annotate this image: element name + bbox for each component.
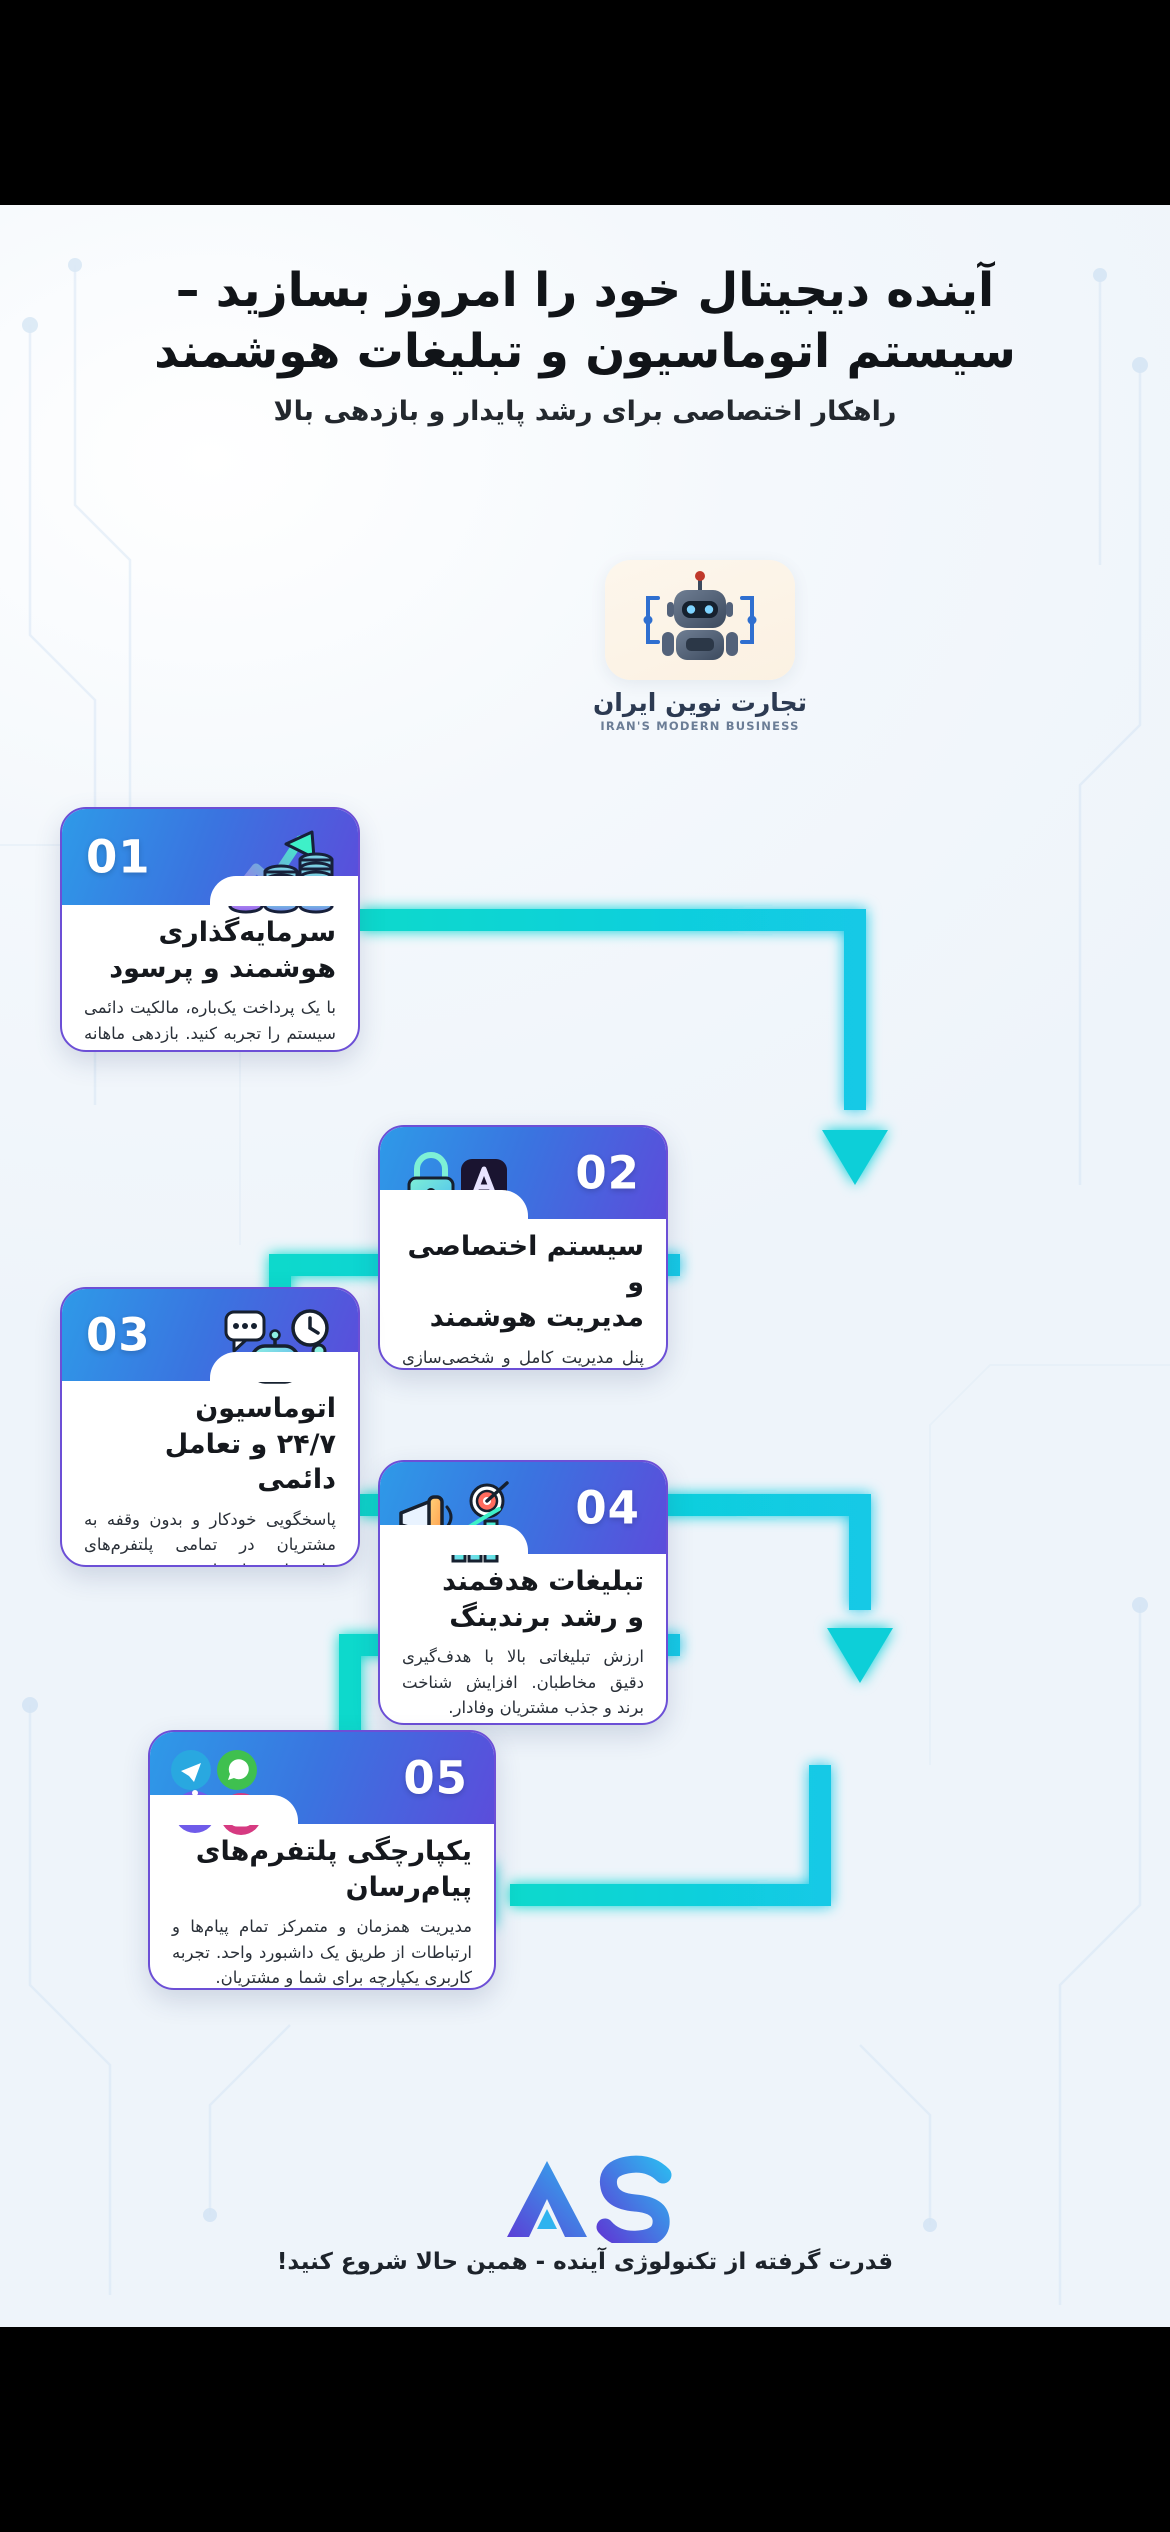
brand-chip [605,560,795,680]
card-01-title-line-2: هوشمند و پرسود [109,953,336,984]
card-03-title: اتوماسیون ۲۴/۷ و تعامل دائمی [84,1391,336,1498]
card-04-number: 04 [575,1482,640,1535]
brand-name: تجارت نوین ایران [555,688,845,717]
card-03-notch [210,1352,358,1382]
card-04[interactable]: 04 تبلیغات هدفمند و رشد برندینگ ارزش تبل… [378,1460,668,1725]
card-03-number: 03 [86,1309,151,1362]
card-03-body: اتوماسیون ۲۴/۷ و تعامل دائمی پاسخگویی خو… [62,1381,358,1567]
card-05-text: مدیریت همزمان و متمرکز تمام پیام‌ها و ار… [172,1914,472,1990]
card-02-band: Admin 02 [380,1127,666,1219]
card-04-band: 04 [380,1462,666,1554]
title-line-2: سیستم اتوماسیون و تبلیغات هوشمند [28,321,1142,382]
card-03-title-line-2: ۲۴/۷ و تعامل دائمی [165,1429,336,1496]
card-05-number: 05 [403,1752,468,1805]
card-03[interactable]: 03 اتوماسیون ۲۴/۷ و تعامل دائمی پاسخگویی… [60,1287,360,1567]
card-03-text: پاسخگویی خودکار و بدون وقفه به مشتریان د… [84,1507,336,1567]
card-01-body: سرمایه‌گذاری هوشمند و پرسود با یک پرداخت… [62,905,358,1052]
screenshot-root: آینده دیجیتال خود را امروز بسازید – سیست… [0,0,1170,2532]
page-subtitle: راهکار اختصاصی برای رشد پایدار و بازدهی … [28,396,1142,427]
card-01[interactable]: 01 سرمایه‌گذاری هوشمند و پرسود با یک پرد… [60,807,360,1052]
lock-admin-icon: Admin [394,1137,514,1241]
card-02-title: سیستم اختصاصی و مدیریت هوشمند [402,1229,644,1336]
card-04-text: ارزش تبلیغاتی بالا با هدف‌گیری دقیق مخاط… [402,1644,644,1721]
card-04-notch [380,1525,528,1555]
title-line-1: آینده دیجیتال خود را امروز بسازید – [28,260,1142,321]
card-02-title-line-2: مدیریت هوشمند [430,1302,644,1333]
card-01-notch [210,876,358,906]
page-title: آینده دیجیتال خود را امروز بسازید – سیست… [28,260,1142,382]
card-01-text: با یک پرداخت یک‌باره، مالکیت دائمی سیستم… [84,995,336,1052]
card-01-band: 01 [62,809,358,905]
card-02[interactable]: Admin 02 سیستم اختصاصی و مدیریت هوشمند پ… [378,1125,668,1370]
card-05-band: 05 [150,1732,494,1824]
growth-chart-coins-icon [222,819,342,923]
robot-icon [640,568,760,672]
card-01-number: 01 [86,831,151,884]
as-logo [0,2151,1170,2243]
card-02-body: سیستم اختصاصی و مدیریت هوشمند پنل مدیریت… [380,1219,666,1370]
brand-badge: تجارت نوین ایران IRAN'S MODERN BUSINESS [555,560,845,765]
megaphone-target-growth-icon [394,1472,514,1576]
card-01-title: سرمایه‌گذاری هوشمند و پرسود [84,915,336,986]
card-05-body: یکپارچگی پلتفرم‌های پیام‌رسان مدیریت همز… [150,1824,494,1990]
card-04-title-line-2: و رشد برندینگ [449,1602,644,1633]
card-03-band: 03 [62,1289,358,1381]
messaging-platforms-icon [164,1742,284,1846]
footer-tagline: قدرت گرفته از تکنولوژی آینده - همین حالا… [0,2249,1170,2275]
card-02-notch [380,1190,528,1220]
card-05-notch [150,1795,298,1825]
card-05[interactable]: 05 یکپارچگی پلتفرم‌های پیام‌رسان مدیریت … [148,1730,496,1990]
chatbot-clock-icon [222,1299,342,1403]
card-02-number: 02 [575,1147,640,1200]
header: آینده دیجیتال خود را امروز بسازید – سیست… [0,260,1170,427]
footer: قدرت گرفته از تکنولوژی آینده - همین حالا… [0,2151,1170,2275]
brand-subtitle: IRAN'S MODERN BUSINESS [555,719,845,733]
card-02-text: پنل مدیریت کامل و شخصی‌سازی شده برای کنت… [402,1345,644,1370]
card-04-body: تبلیغات هدفمند و رشد برندینگ ارزش تبلیغا… [380,1554,666,1725]
infographic-canvas: آینده دیجیتال خود را امروز بسازید – سیست… [0,205,1170,2327]
